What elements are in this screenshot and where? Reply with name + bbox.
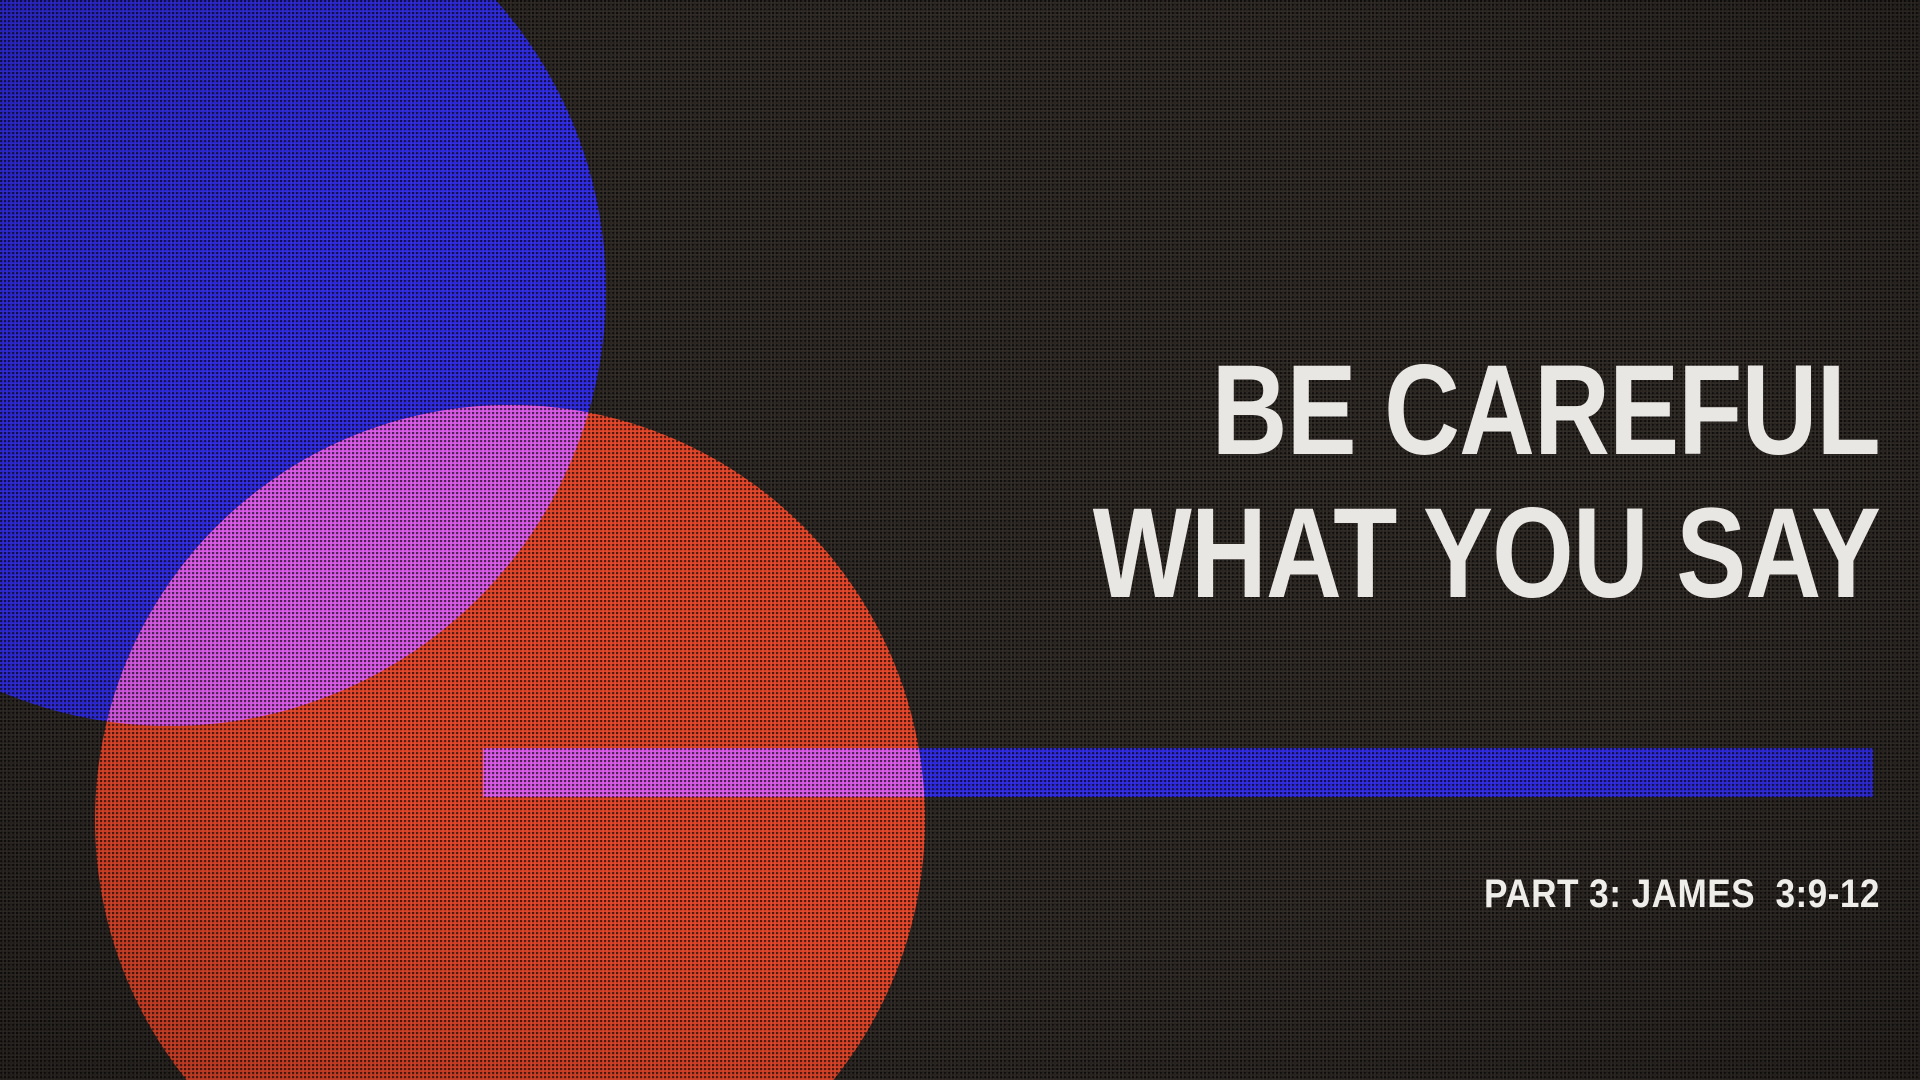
title-line-2: WHAT YOU SAY (1093, 495, 1880, 613)
sermon-title-slide: BE CAREFUL WHAT YOU SAY PART 3: JAMES 3:… (0, 0, 1920, 1080)
title-line-1: BE CAREFUL (1212, 352, 1880, 470)
text-layer: BE CAREFUL WHAT YOU SAY PART 3: JAMES 3:… (0, 0, 1920, 1080)
series-part-and-scripture-reference: PART 3: JAMES 3:9-12 (1484, 872, 1880, 917)
